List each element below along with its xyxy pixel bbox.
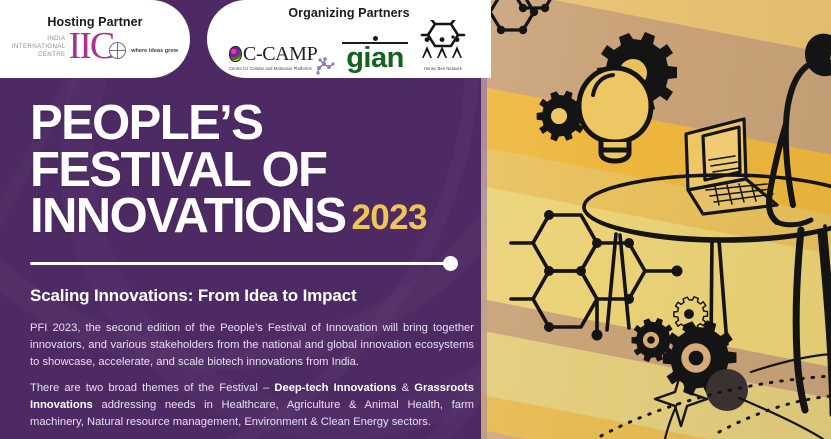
title-line-3: INNOVATIONS xyxy=(30,193,345,240)
poster-tagline: Scaling Innovations: From Idea to Impact xyxy=(30,286,357,306)
organizing-logos-row: C-CAMP Centre for Cellular and Molecular… xyxy=(229,20,469,71)
title-divider-dot xyxy=(443,256,458,271)
ccamp-logo: C-CAMP Centre for Cellular and Molecular… xyxy=(229,44,333,71)
illustration-panel xyxy=(481,0,831,439)
organizing-partners-heading: Organizing Partners xyxy=(288,7,409,20)
molecule-icon xyxy=(315,55,335,75)
honey-bee-network-logo: Honey Bee Network xyxy=(417,20,469,71)
theme-deeptech: Deep-tech Innovations xyxy=(274,382,396,394)
iic-tagline: where ideas grow xyxy=(131,48,178,54)
ccamp-wordmark: C-CAMP xyxy=(243,44,317,64)
themes-text-post: addressing needs in Healthcare, Agricult… xyxy=(30,399,474,428)
hosting-partner-card: Hosting Partner INDIA INTERNATIONAL CENT… xyxy=(0,0,190,78)
gian-wordmark: gian xyxy=(342,45,408,71)
themes-paragraph: There are two broad themes of the Festiv… xyxy=(30,380,474,431)
cell-icon xyxy=(229,46,242,62)
gian-dot-icon xyxy=(373,36,378,41)
iic-monogram: IIC xyxy=(69,32,114,62)
title-divider xyxy=(30,262,458,265)
intro-paragraph: PFI 2023, the second edition of the Peop… xyxy=(30,320,474,371)
title-line-1: PEOPLE’S xyxy=(30,100,470,147)
title-year: 2023 xyxy=(351,200,426,240)
innovation-illustration xyxy=(481,0,831,439)
iic-logo: INDIA INTERNATIONAL CENTRE IIC where ide… xyxy=(12,32,178,62)
lightbulb-icon xyxy=(579,68,651,161)
honey-bee-network-label: Honey Bee Network xyxy=(417,66,469,71)
iic-wordmark: INDIA INTERNATIONAL CENTRE xyxy=(12,35,66,58)
themes-text-mid: & xyxy=(396,382,414,394)
dark-circle-icon xyxy=(706,369,748,411)
globe-icon xyxy=(109,42,126,59)
poster-title: PEOPLE’S FESTIVAL OF INNOVATIONS 2023 xyxy=(30,100,470,240)
title-line-3-row: INNOVATIONS 2023 xyxy=(30,193,470,240)
person-standing-icon xyxy=(769,36,831,418)
hexagon-molecule-icon xyxy=(481,0,577,30)
hexagon-people-icon xyxy=(419,20,467,60)
title-line-2: FESTIVAL OF xyxy=(30,147,470,194)
festival-poster: Hosting Partner INDIA INTERNATIONAL CENT… xyxy=(0,0,831,439)
themes-text-pre: There are two broad themes of the Festiv… xyxy=(30,382,274,394)
partner-logo-bar: Hosting Partner INDIA INTERNATIONAL CENT… xyxy=(0,0,481,80)
organizing-partners-card: Organizing Partners C-CAMP Centre for Ce… xyxy=(207,0,491,78)
laptop-icon xyxy=(686,119,777,214)
gian-logo: gian xyxy=(342,36,408,72)
